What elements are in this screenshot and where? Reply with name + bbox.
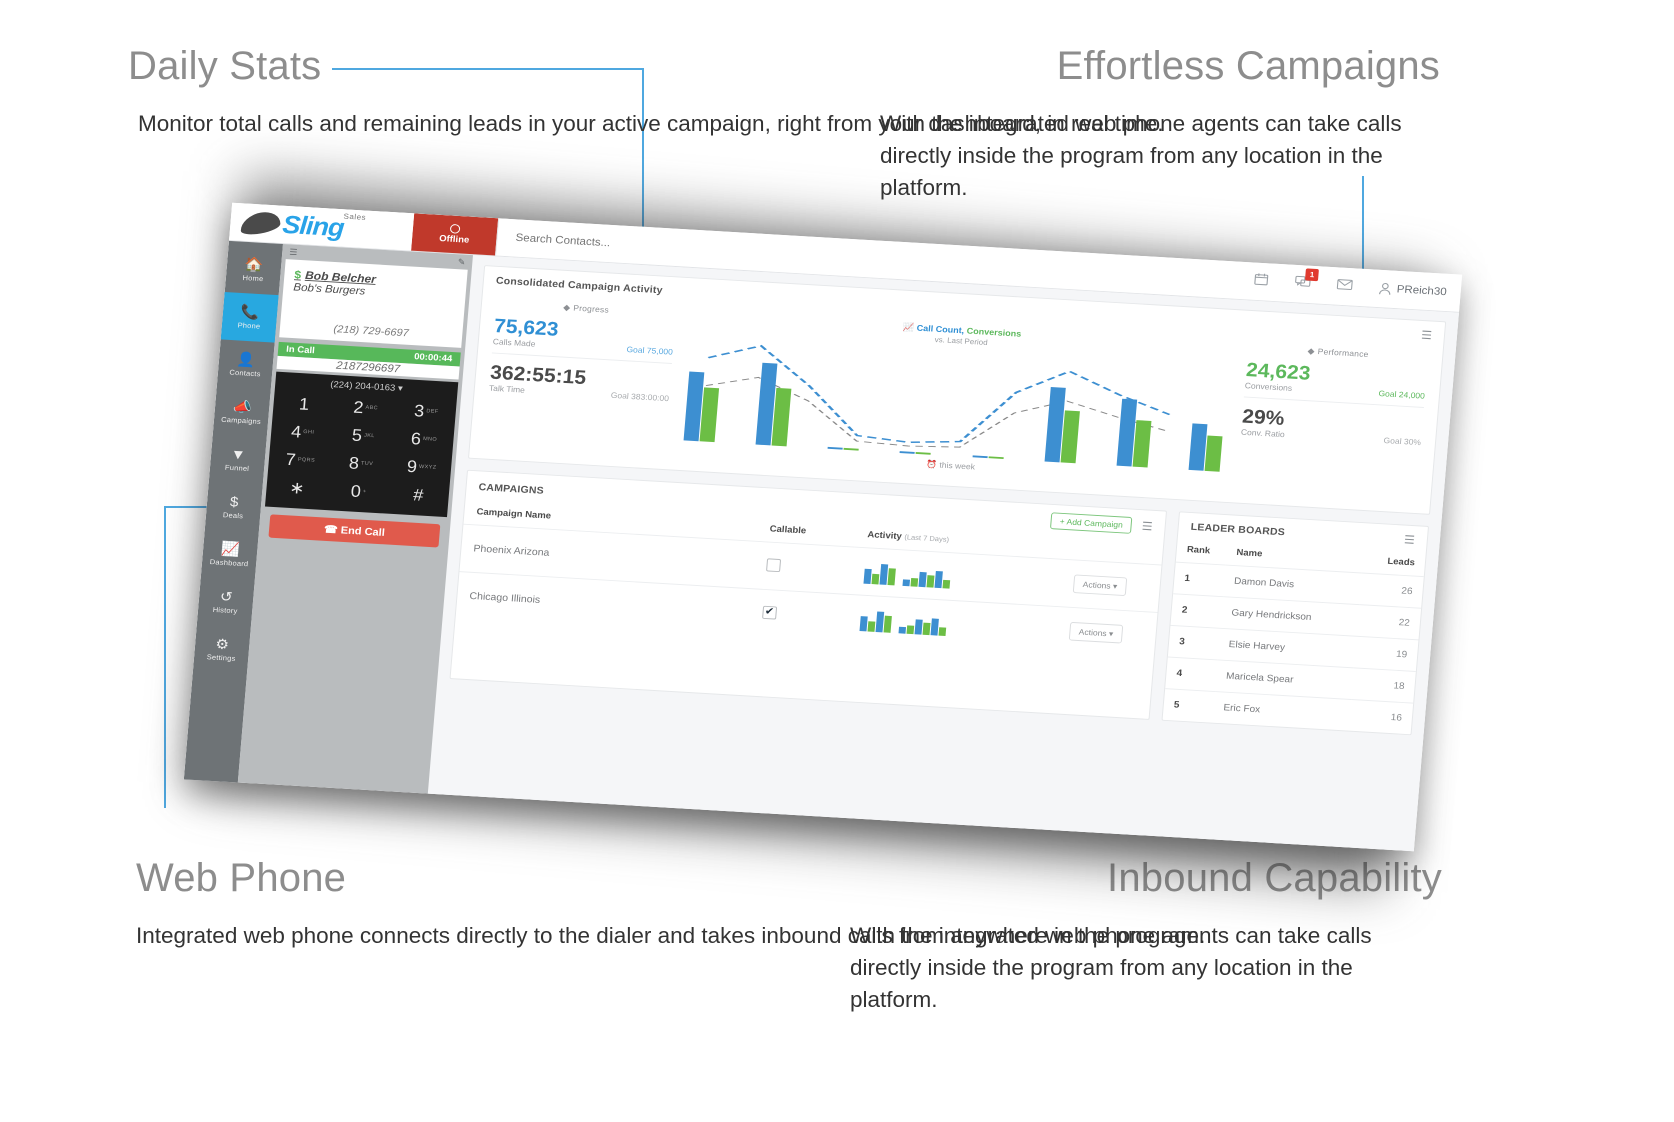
- key-digit: ∗: [289, 478, 306, 497]
- dialpad-key[interactable]: 9WXYZ: [389, 452, 452, 483]
- key-letters: +: [363, 489, 367, 495]
- logo-wordmark: Sling: [282, 212, 345, 241]
- col-rank: Rank: [1176, 540, 1227, 565]
- caller-id-value: (224) 204-0163: [330, 380, 396, 394]
- campaigns-title: CAMPAIGNS: [478, 482, 544, 497]
- sidebar-item-label: Campaigns: [221, 415, 261, 426]
- gear-icon: ⚙: [215, 637, 230, 652]
- mail-icon[interactable]: [1336, 278, 1353, 296]
- sidebar-item-label: Home: [242, 273, 264, 283]
- bar-group: [898, 451, 932, 455]
- key-letters: MNO: [423, 436, 438, 442]
- key-digit: 3: [413, 401, 425, 420]
- bar-group: [826, 447, 860, 451]
- dialpad-key[interactable]: 5JKL: [331, 421, 394, 452]
- sidebar-item-label: Settings: [206, 652, 235, 662]
- dollar-icon: $: [229, 495, 239, 509]
- bar-group: [754, 363, 795, 447]
- card-menu-icon[interactable]: ☰: [1421, 328, 1433, 342]
- progress-icon: ◆: [563, 302, 571, 312]
- key-letters: TUV: [361, 461, 374, 467]
- leader-rank: 5: [1163, 689, 1215, 723]
- megaphone-icon: 📣: [232, 400, 252, 415]
- bar-group: [1188, 423, 1226, 471]
- sidebar-item-contacts[interactable]: 👤 Contacts: [217, 339, 275, 390]
- dialpad-keys: 1 2ABC 3DEF 4GHI 5JKL 6MNO 7PQRS 8TUV 9W…: [265, 389, 456, 511]
- sidebar-item-dashboard[interactable]: 📈 Dashboard: [201, 529, 259, 580]
- callable-checkbox[interactable]: [766, 558, 781, 572]
- bar-group: [971, 455, 1005, 459]
- dialpad-key[interactable]: 4GHI: [270, 417, 333, 448]
- sidebar-item-label: Funnel: [225, 463, 250, 473]
- username-label: PReich30: [1396, 284, 1447, 298]
- bar-group: [682, 371, 722, 442]
- sidebar-item-label: History: [212, 605, 237, 615]
- bar-group: [1115, 399, 1155, 468]
- user-icon: [1378, 282, 1392, 296]
- dialpad-key[interactable]: 0+: [326, 477, 389, 508]
- actions-button[interactable]: Actions ▾: [1073, 574, 1127, 596]
- chat-icon[interactable]: 1: [1294, 274, 1312, 294]
- sidebar-item-funnel[interactable]: ▼ Funnel: [209, 434, 267, 485]
- key-digit: 1: [298, 395, 310, 414]
- legend-call-count: Call Count,: [916, 323, 964, 335]
- key-digit: 2: [353, 398, 365, 417]
- callout-title: Effortless Campaigns: [1057, 46, 1440, 86]
- key-digit: 5: [351, 426, 363, 445]
- key-letters: PQRS: [298, 457, 316, 464]
- history-icon: ↺: [219, 589, 233, 604]
- leader-leads: 26: [1359, 573, 1424, 608]
- sidebar-item-label: Dashboard: [210, 557, 249, 568]
- sidebar-item-campaigns[interactable]: 📣 Campaigns: [213, 387, 271, 438]
- callout-body: With the integrated web phone agents can…: [880, 108, 1440, 204]
- contact-card: $Bob Belcher Bob's Burgers (218) 729-669…: [279, 259, 468, 348]
- activity-chart: 📈 Call Count, Conversions vs. Last Perio…: [664, 309, 1248, 488]
- leader-leads: 18: [1351, 668, 1416, 703]
- sparkline: [859, 607, 1046, 642]
- talk-time-label: Talk Time: [489, 383, 526, 394]
- key-digit: 9: [406, 457, 418, 476]
- consolidated-campaign-activity-card: Consolidated Campaign Activity ☰ ◆Progre…: [468, 265, 1446, 515]
- dialpad-key[interactable]: 1: [272, 389, 335, 420]
- leader-rank: 3: [1168, 625, 1220, 660]
- key-digit: 7: [285, 450, 297, 469]
- key-letters: DEF: [426, 408, 439, 414]
- sidebar-item-label: Deals: [223, 510, 244, 520]
- dialpad-key[interactable]: 7PQRS: [268, 445, 331, 476]
- leaderboards-menu-icon[interactable]: ☰: [1403, 533, 1415, 547]
- callable-checkbox[interactable]: [762, 605, 777, 619]
- in-call-label: In Call: [286, 344, 315, 356]
- end-call-button[interactable]: ☎ End Call: [268, 514, 440, 547]
- expand-icon[interactable]: ✎: [457, 257, 465, 268]
- chevron-down-icon: ▾: [397, 383, 403, 394]
- performance-icon: ◆: [1307, 346, 1315, 356]
- funnel-icon: ▼: [230, 447, 246, 462]
- sidebar-item-phone[interactable]: 📞 Phone: [221, 292, 279, 343]
- user-menu[interactable]: PReich30: [1378, 282, 1447, 299]
- calls-made-label: Calls Made: [492, 337, 535, 349]
- conv-ratio-goal: Goal 30%: [1383, 436, 1421, 447]
- chart-icon: 📈: [220, 542, 240, 557]
- callout-effortless-campaigns: Effortless Campaigns With the integrated…: [880, 46, 1440, 204]
- talk-time-goal: Goal 383:00:00: [610, 390, 669, 403]
- end-call-label: End Call: [340, 525, 385, 539]
- leader-leads: 16: [1349, 700, 1414, 735]
- dialpad: (224) 204-0163 ▾ 1 2ABC 3DEF 4GHI 5JKL 6…: [265, 372, 458, 517]
- sparkline: [863, 559, 1050, 594]
- leader-rank: 2: [1170, 594, 1222, 629]
- key-digit: 0: [350, 482, 362, 501]
- conversions-goal: Goal 24,000: [1378, 389, 1425, 401]
- sidebar-item-deals[interactable]: $ Deals: [205, 482, 263, 533]
- leader-rank: 1: [1173, 562, 1225, 597]
- actions-cell: Actions ▾: [1060, 559, 1162, 612]
- card-title: Consolidated Campaign Activity: [495, 275, 663, 296]
- key-digit: 8: [348, 454, 360, 473]
- sidebar-item-label: Phone: [237, 320, 260, 330]
- performance-stats: ◆Performance 24,623 Conversions Goal 24,…: [1236, 343, 1428, 499]
- progress-stats: ◆Progress 75,623 Calls Made Goal 75,000 …: [484, 299, 676, 455]
- leaderboards-title: LEADER BOARDS: [1190, 522, 1285, 539]
- calendar-icon[interactable]: [1253, 272, 1270, 291]
- actions-cell: Actions ▾: [1056, 607, 1158, 660]
- campaigns-card: CAMPAIGNS + Add Campaign ☰: [449, 470, 1167, 720]
- sidebar-item-history[interactable]: ↺ History: [197, 577, 255, 628]
- contacts-icon: 👤: [236, 352, 256, 367]
- dollar-icon: $: [294, 268, 302, 281]
- chart-icon: 📈: [903, 322, 915, 332]
- callable-cell: [753, 541, 855, 594]
- dialpad-key[interactable]: 8TUV: [328, 449, 391, 480]
- dialpad-key[interactable]: #: [387, 480, 450, 511]
- home-icon: 🏠: [244, 257, 264, 272]
- conversions-label: Conversions: [1244, 381, 1292, 393]
- dialpad-key[interactable]: 3DEF: [394, 396, 457, 427]
- dialpad-key[interactable]: 2ABC: [333, 393, 396, 424]
- key-letters: GHI: [303, 429, 314, 435]
- sidebar-item-home[interactable]: 🏠 Home: [225, 245, 283, 296]
- swoosh-icon: [241, 209, 281, 237]
- leaderboards-table: Rank Name Leads 1 Damon Davis: [1163, 540, 1426, 734]
- logo-subtext: Sales: [343, 212, 366, 222]
- activity-sub-label: (Last 7 Days): [904, 533, 949, 544]
- key-digit: 4: [290, 422, 302, 441]
- conv-ratio-label: Conv. Ratio: [1241, 427, 1286, 439]
- search-input[interactable]: [513, 231, 818, 262]
- key-letters: WXYZ: [419, 464, 437, 471]
- sidebar-item-label: Contacts: [229, 368, 261, 378]
- leader-leads: 22: [1356, 605, 1421, 640]
- phone-icon: 📞: [240, 305, 260, 320]
- dialpad-key[interactable]: ∗: [265, 473, 328, 504]
- key-letters: ABC: [365, 405, 378, 411]
- key-letters: JKL: [364, 433, 375, 439]
- key-digit: #: [413, 485, 425, 504]
- power-icon: [450, 223, 461, 233]
- campaigns-menu-icon[interactable]: ☰: [1141, 520, 1153, 534]
- actions-button[interactable]: Actions ▾: [1069, 622, 1123, 644]
- dialpad-key[interactable]: 6MNO: [391, 424, 454, 455]
- leader-leads: 19: [1354, 636, 1419, 671]
- callout-body: With the integrated web phone agents can…: [850, 920, 1442, 1016]
- call-timer: 00:00:44: [414, 352, 453, 364]
- callable-cell: [749, 589, 851, 642]
- chat-badge: 1: [1305, 268, 1319, 281]
- key-digit: 6: [410, 429, 422, 448]
- bar-group: [1043, 387, 1083, 463]
- add-campaign-button[interactable]: + Add Campaign: [1050, 512, 1132, 533]
- infographic-canvas: Daily Stats Monitor total calls and rema…: [0, 0, 1674, 1122]
- calls-made-goal: Goal 75,000: [626, 345, 673, 357]
- status-badge-offline[interactable]: Offline: [411, 213, 498, 255]
- leader-rank: 4: [1165, 657, 1217, 692]
- main-content: Consolidated Campaign Activity ☰ ◆Progre…: [428, 255, 1459, 851]
- leader-name: Eric Fox: [1212, 692, 1351, 731]
- contact-phone-number: (218) 729-6697: [290, 321, 453, 342]
- leaderboards-card: LEADER BOARDS ☰ Rank Name Leads: [1161, 511, 1429, 735]
- dashboard-screenshot: Sling Sales Offline: [150, 205, 1380, 845]
- sidebar-item-settings[interactable]: ⚙ Settings: [193, 624, 251, 675]
- status-label: Offline: [439, 233, 470, 246]
- legend-conversions: Conversions: [966, 326, 1021, 338]
- menu-icon[interactable]: ☰: [289, 247, 298, 258]
